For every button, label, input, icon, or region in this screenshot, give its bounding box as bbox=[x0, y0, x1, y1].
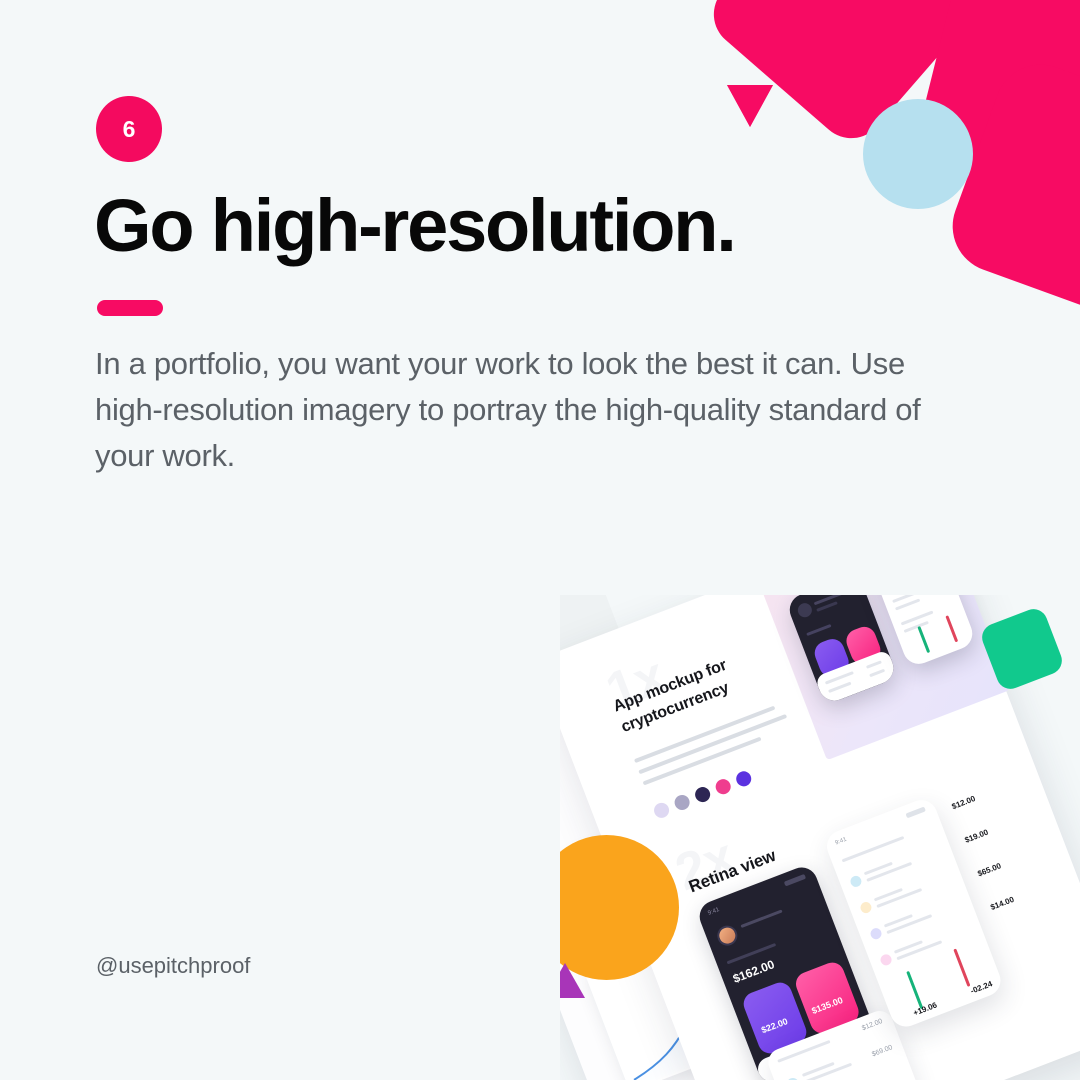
stats-sparkline-gain bbox=[906, 971, 923, 1009]
stat-gain-value: +19.06 bbox=[912, 1000, 938, 1017]
stats-status-icons bbox=[905, 807, 925, 819]
list-icon-2 bbox=[859, 900, 873, 914]
swatch-5 bbox=[734, 769, 753, 788]
status-icons bbox=[784, 874, 806, 887]
sparkline-gain bbox=[917, 626, 930, 653]
wallet-avatar bbox=[714, 923, 740, 949]
pink-triangle-down-icon bbox=[727, 85, 773, 127]
swatch-4 bbox=[713, 777, 732, 796]
stats-sparkline-loss bbox=[953, 948, 970, 986]
swatch-2 bbox=[672, 793, 691, 812]
blue-circle-icon bbox=[863, 99, 973, 209]
wallet-balance: $162.00 bbox=[731, 957, 777, 986]
phone-avatar bbox=[796, 601, 814, 619]
body-paragraph: In a portfolio, you want your work to lo… bbox=[95, 341, 975, 480]
wallet-tile-right-value: $135.00 bbox=[810, 995, 844, 1016]
list-icon-1 bbox=[849, 874, 863, 888]
account-handle: @usepitchproof bbox=[96, 953, 250, 979]
price-row-3: $65.00 bbox=[976, 861, 1002, 878]
transaction-value-2: $69.00 bbox=[871, 1044, 894, 1058]
swatch-1 bbox=[652, 801, 671, 820]
stats-status-time: 9:41 bbox=[835, 837, 848, 847]
purple-triangle-icon bbox=[560, 963, 585, 998]
transaction-icon-1 bbox=[785, 1076, 801, 1080]
list-icon-3 bbox=[869, 927, 883, 941]
price-row-4: $14.00 bbox=[989, 895, 1015, 912]
status-time: 9:41 bbox=[707, 907, 720, 917]
page-title: Go high-resolution. bbox=[94, 189, 735, 263]
list-icon-4 bbox=[879, 953, 893, 967]
sparkline-loss bbox=[945, 615, 958, 642]
price-row-1: $12.00 bbox=[951, 794, 977, 811]
portfolio-mockup-image: $12.00 $19.00 bbox=[560, 595, 1080, 1080]
wallet-tile-left-value: $22.00 bbox=[760, 1016, 789, 1035]
step-number-badge: 6 bbox=[96, 96, 162, 162]
swatch-3 bbox=[693, 785, 712, 804]
title-underline-rule bbox=[97, 300, 163, 316]
stat-loss-value: -02.24 bbox=[969, 979, 993, 996]
price-row-2: $19.00 bbox=[963, 828, 989, 845]
transaction-value-1: $12.00 bbox=[861, 1018, 884, 1032]
